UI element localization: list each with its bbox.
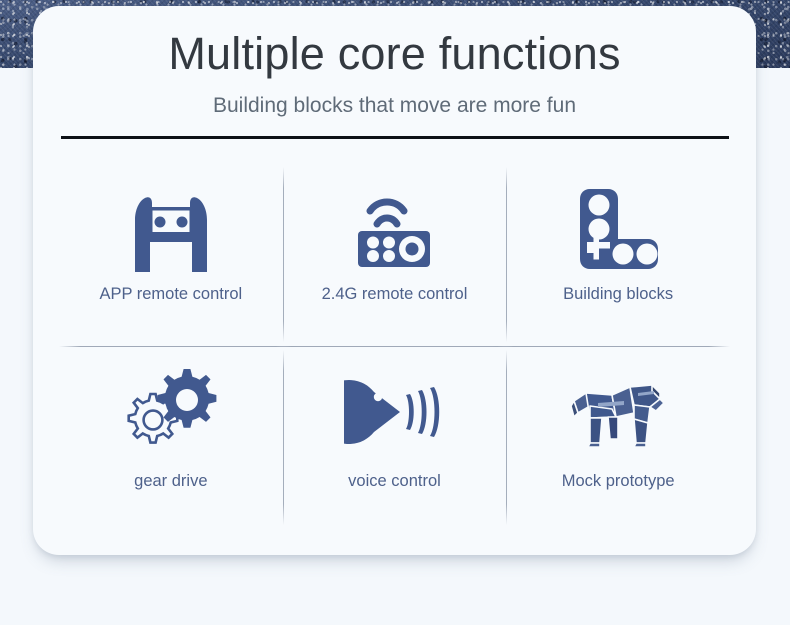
feature-cell-gear-drive[interactable]: gear drive [59,346,283,529]
feature-label: gear drive [134,472,207,491]
title-divider [61,136,729,139]
feature-cell-voice-control[interactable]: voice control [283,346,507,529]
hands-holding-phone-gamepad-icon [119,181,223,277]
feature-cell-app-remote-control[interactable]: APP remote control [59,163,283,346]
page-title: Multiple core functions [33,6,756,80]
remote-control-wifi-icon [348,181,440,277]
l-shaped-technic-beam-icon [574,181,662,277]
core-functions-card: Multiple core functions Building blocks … [33,6,756,555]
feature-label: 2.4G remote control [322,285,468,304]
polygonal-dog-icon [568,364,668,460]
feature-label: voice control [348,472,441,491]
page-subtitle: Building blocks that move are more fun [33,80,756,118]
feature-cell-24g-remote-control[interactable]: 2.4G remote control [283,163,507,346]
feature-label: Building blocks [563,285,673,304]
feature-grid: APP remote control [59,163,730,529]
feature-cell-building-blocks[interactable]: Building blocks [506,163,730,346]
two-gears-icon [123,364,219,460]
speaking-head-soundwaves-icon [344,364,444,460]
feature-label: APP remote control [99,285,242,304]
feature-label: Mock prototype [562,472,675,491]
feature-cell-mock-prototype[interactable]: Mock prototype [506,346,730,529]
